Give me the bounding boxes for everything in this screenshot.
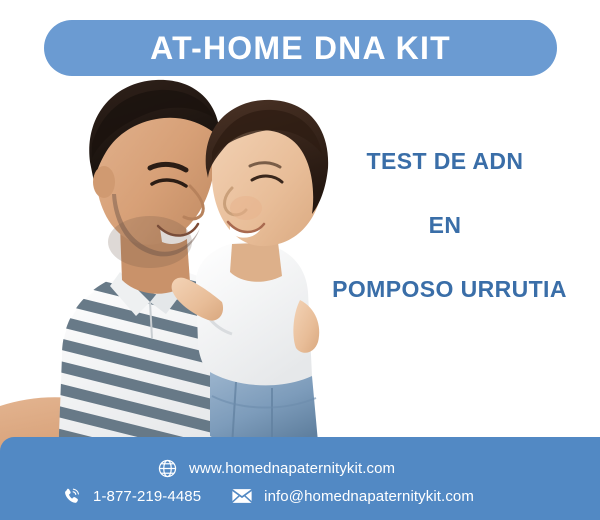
header-pill: AT-HOME DNA KIT: [44, 20, 557, 76]
page-title: AT-HOME DNA KIT: [150, 32, 451, 64]
email-label: info@homednapaternitykit.com: [264, 488, 474, 505]
family-photo: [0, 76, 330, 458]
envelope-icon: [231, 485, 253, 507]
footer-row-website: www.homednapaternitykit.com: [156, 457, 395, 479]
phone-icon: [60, 485, 82, 507]
dna-kit-banner: AT-HOME DNA KIT: [0, 0, 600, 520]
headline-block: TEST DE ADN EN POMPOSO URRUTIA: [300, 150, 600, 301]
headline-line-1: TEST DE ADN: [290, 150, 600, 173]
contact-footer: www.homednapaternitykit.com 1-877-219-44…: [0, 437, 600, 520]
website-contact[interactable]: www.homednapaternitykit.com: [156, 457, 395, 479]
family-photo-illustration: [0, 76, 330, 458]
website-label: www.homednapaternitykit.com: [189, 460, 395, 477]
footer-row-phone-email: 1-877-219-4485 info@homednapaternitykit.…: [60, 485, 474, 507]
phone-contact[interactable]: 1-877-219-4485: [60, 485, 201, 507]
headline-line-3: POMPOSO URRUTIA: [299, 278, 600, 301]
email-contact[interactable]: info@homednapaternitykit.com: [231, 485, 474, 507]
globe-icon: [156, 457, 178, 479]
phone-label: 1-877-219-4485: [93, 488, 201, 505]
headline-line-2: EN: [290, 214, 600, 237]
